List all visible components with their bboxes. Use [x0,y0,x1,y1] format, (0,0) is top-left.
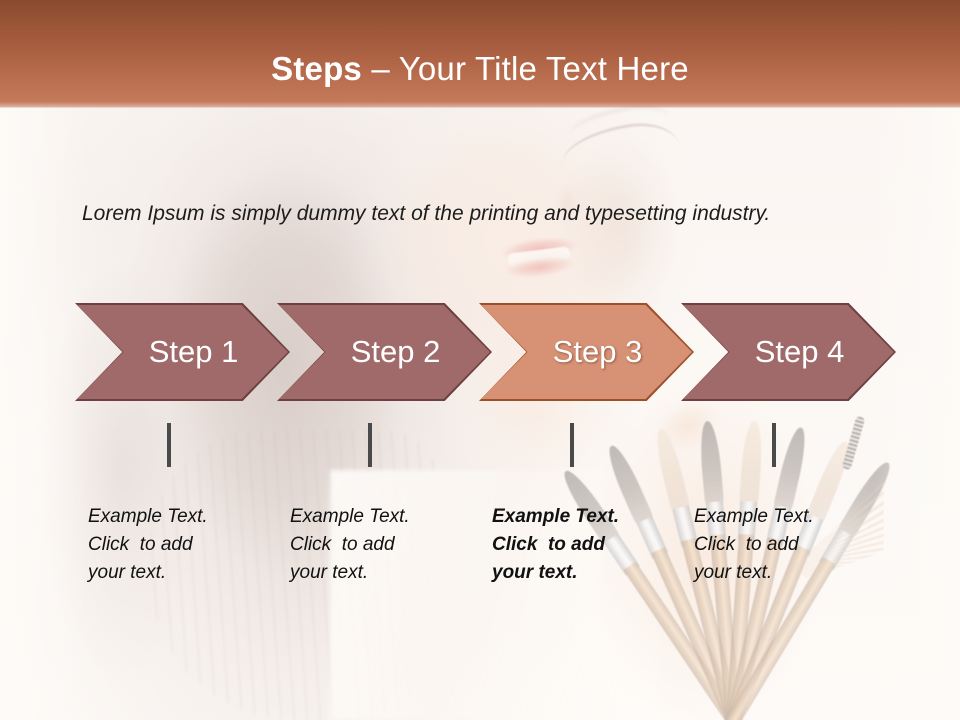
step-caption-3-line-1: Example Text. [492,503,677,531]
step-caption-2-line-2: Click to add [290,531,475,559]
step-caption-1-line-2: Click to add [88,531,273,559]
connector-tick-4 [772,423,776,467]
step-caption-4-line-3: your text. [694,559,879,587]
step-caption-3-line-2: Click to add [492,531,677,559]
connector-ticks [0,0,960,720]
connector-tick-3 [570,423,574,467]
step-caption-1-line-3: your text. [88,559,273,587]
step-caption-2[interactable]: Example Text. Click to add your text. [290,503,475,587]
step-caption-3-line-3: your text. [492,559,677,587]
step-caption-4-line-1: Example Text. [694,503,879,531]
connector-tick-2 [368,423,372,467]
connector-tick-1 [167,423,171,467]
step-caption-4[interactable]: Example Text. Click to add your text. [694,503,879,587]
step-caption-1-line-1: Example Text. [88,503,273,531]
step-caption-2-line-3: your text. [290,559,475,587]
step-caption-4-line-2: Click to add [694,531,879,559]
slide-canvas: Steps – Your Title Text Here Lorem Ipsum… [0,0,960,720]
step-caption-3[interactable]: Example Text. Click to add your text. [492,503,677,587]
step-caption-2-line-1: Example Text. [290,503,475,531]
step-caption-1[interactable]: Example Text. Click to add your text. [88,503,273,587]
